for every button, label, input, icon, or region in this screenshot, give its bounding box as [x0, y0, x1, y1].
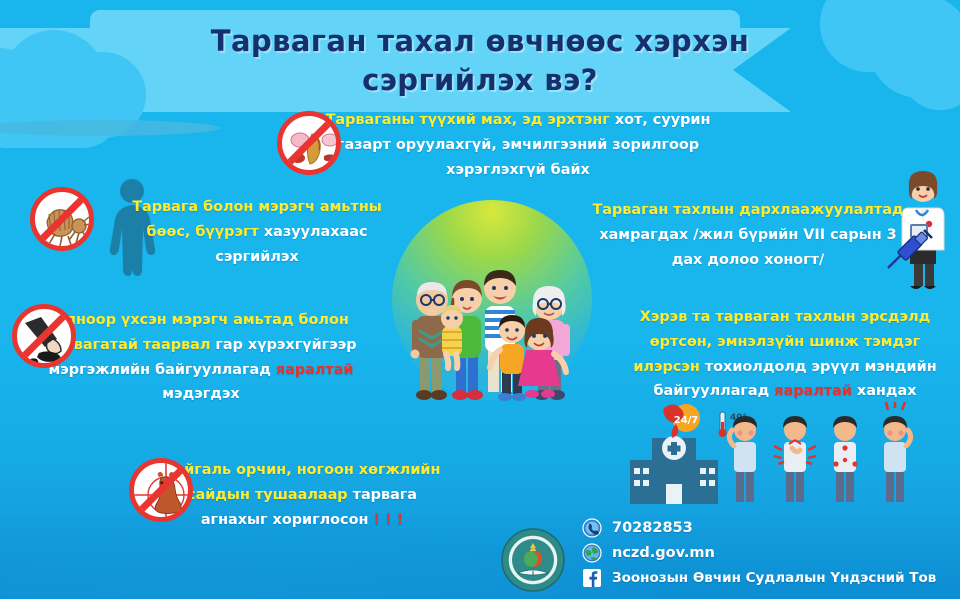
b5-body: хамрагдах /жил бүрийн VII сарын 3 дах до…	[599, 227, 896, 268]
cloud-shape	[2, 30, 106, 134]
facebook-icon	[582, 568, 602, 588]
contact-info: 70282853 nczd.gov.mn Зоонозын Өвчин Судл…	[582, 518, 936, 593]
cloud-shape	[0, 74, 120, 148]
facebook-page-name: Зоонозын Өвчин Судлалын Үндэсний Тов	[612, 570, 936, 586]
sick-person-bodypain-icon	[833, 416, 858, 502]
cloud-shape	[0, 48, 44, 138]
page-title: Тарваган тахал өвчнөөс хэрхэн сэргийлэх …	[130, 22, 830, 100]
b6-urgent: яаралтай	[774, 383, 852, 399]
page-title-line-2: сэргийлэх вэ?	[130, 61, 830, 100]
raw-meat-glyph	[282, 116, 341, 175]
b3-body-2: мэдэгдэх	[162, 386, 239, 402]
text-block-raw-meat: Тарваганы түүхий мах, эд эрхтэнг хот, су…	[318, 108, 718, 182]
infographic-poster: Тарваган тахал өвчнөөс хэрхэн сэргийлэх …	[0, 0, 960, 599]
flea-glyph	[35, 192, 94, 251]
contact-row-facebook[interactable]: Зоонозын Өвчин Судлалын Үндэсний Тов	[582, 568, 936, 588]
hand-touching-rodent-glyph	[17, 309, 76, 368]
b4-exclaim: ! ! !	[373, 512, 403, 528]
sick-person-headache-icon	[729, 416, 757, 502]
b5-highlight: Тарваган тахлын дархлаажуулалтад	[592, 202, 903, 218]
text-block-vaccination: Тарваган тахлын дархлаажуулалтад хамрагд…	[588, 198, 908, 272]
sick-person-fever-icon	[883, 402, 911, 502]
text-block-flea-bite: Тарвага болон мэрэгч амьтны бөөс, бүүрэг…	[128, 195, 386, 269]
no-touch-dead-rodent-icon	[12, 304, 76, 368]
text-block-dead-rodents: Олноор үхсэн мэрэгч амьтад болон тарвага…	[36, 308, 366, 407]
page-title-line-1: Тарваган тахал өвчнөөс хэрхэн	[130, 22, 830, 61]
contact-row-website[interactable]: nczd.gov.mn	[582, 543, 936, 563]
b6-body-2: хандах	[852, 383, 917, 399]
globe-icon	[582, 543, 602, 563]
baby-figure	[441, 305, 463, 368]
family-illustration	[398, 258, 588, 408]
no-marmot-hunting-icon	[129, 458, 193, 522]
cloud-shape	[820, 0, 916, 72]
hospital-and-patients-scene: 24/7 40°	[624, 402, 924, 514]
phone-icon	[582, 518, 602, 538]
no-flea-tick-icon	[30, 187, 94, 251]
marmot-crosshair-glyph	[134, 463, 193, 522]
cloud-shape	[868, 0, 960, 98]
text-block-seek-help: Хэрэв та тарваган тахлын эрсдэлд өртсөн,…	[620, 305, 950, 404]
no-raw-marmot-meat-icon	[277, 111, 341, 175]
phone-number: 70282853	[612, 520, 693, 536]
syringe-icon	[884, 228, 936, 274]
nczd-emblem-logo	[500, 527, 566, 593]
badge-24-7: 24/7	[663, 404, 700, 438]
shadow-blob	[0, 120, 220, 136]
sick-person-chestpain-icon	[774, 416, 816, 502]
b1-highlight: Тарваганы түүхий мах, эд эрхтэнг	[326, 112, 610, 128]
cloud-shape	[900, 30, 960, 110]
b3-urgent: яаралтай	[276, 362, 354, 378]
contact-row-phone[interactable]: 70282853	[582, 518, 936, 538]
text-block-hunting-ban: Байгаль орчин, ногоон хөгжлийн сайдын ту…	[152, 458, 452, 532]
website-url: nczd.gov.mn	[612, 545, 715, 561]
hospital-building-icon	[630, 436, 718, 504]
badge-24-7-label: 24/7	[674, 415, 699, 426]
